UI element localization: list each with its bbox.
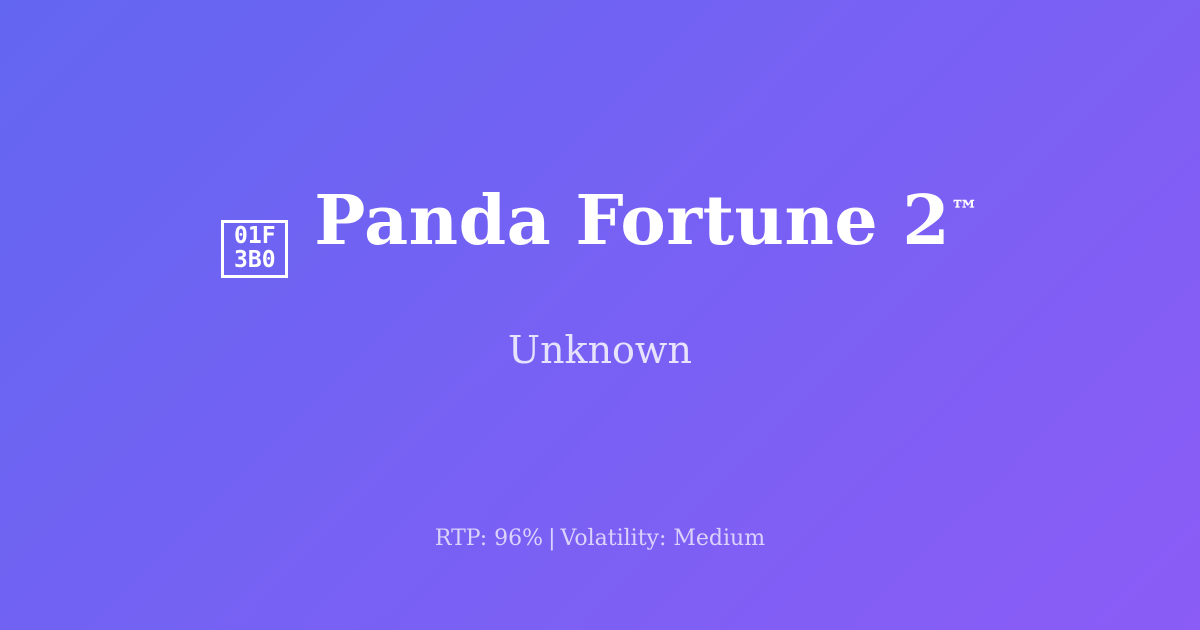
- codepoint-bottom: 3B0: [234, 249, 276, 272]
- page-title: Panda Fortune 2™: [314, 187, 978, 255]
- trademark-symbol: ™: [950, 194, 979, 228]
- game-open-graph-card: 01F 3B0 Panda Fortune 2™ Unknown RTP: 96…: [0, 0, 1200, 630]
- slot-machine-icon: 01F 3B0: [221, 220, 288, 278]
- volatility-stat: Volatility: Medium: [561, 526, 766, 551]
- stats-separator: |: [543, 526, 560, 551]
- title-row: 01F 3B0 Panda Fortune 2™: [221, 187, 978, 278]
- game-stats-line: RTP: 96%|Volatility: Medium: [0, 528, 1200, 550]
- game-title-text: Panda Fortune 2: [314, 181, 950, 261]
- provider-name: Unknown: [508, 331, 692, 369]
- codepoint-top: 01F: [234, 225, 276, 248]
- rtp-stat: RTP: 96%: [435, 526, 543, 551]
